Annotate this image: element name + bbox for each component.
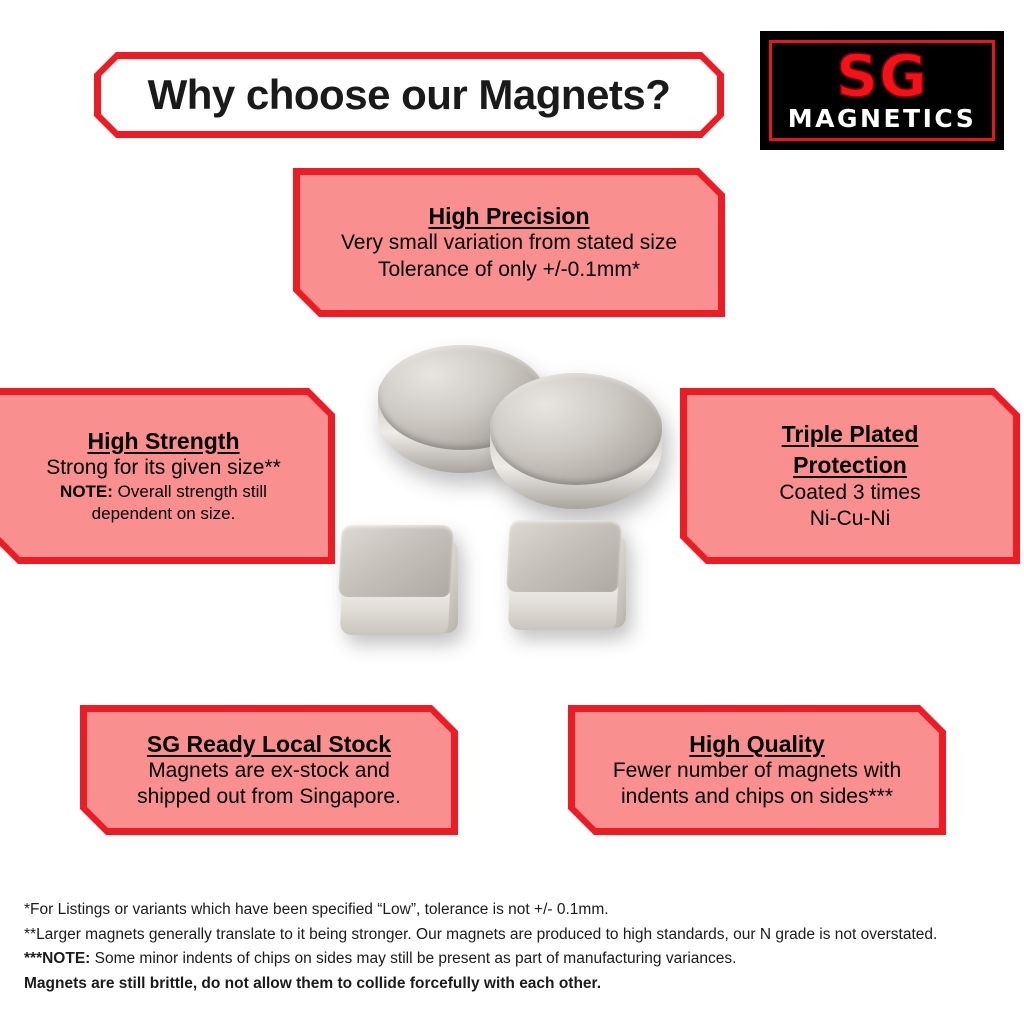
logo-brand-text: SG: [836, 50, 927, 103]
disc-front-top: [490, 373, 662, 485]
callout-sg-ready-local-stock-line-2: shipped out from Singapore.: [137, 784, 401, 810]
callout-high-strength-note-line-1: NOTE: Overall strength still: [60, 481, 267, 503]
callout-sg-ready-local-stock-line-1: Magnets are ex-stock and: [148, 758, 390, 784]
callout-high-strength-note-text-1: Overall strength still: [113, 482, 267, 501]
block-magnet-left-icon: [338, 525, 458, 653]
footnote-3: ***NOTE: Some minor indents of chips on …: [24, 947, 996, 971]
logo-subtitle-text: MAGNETICS: [788, 104, 976, 133]
callout-sg-ready-local-stock: SG Ready Local Stock Magnets are ex-stoc…: [80, 705, 458, 835]
callout-triple-plated-heading-line-2: Protection: [793, 450, 907, 480]
block-left-top-face: [338, 525, 454, 597]
callout-high-precision-line-1: Very small variation from stated size: [341, 230, 677, 256]
callout-high-quality-inner: High Quality Fewer number of magnets wit…: [575, 712, 939, 828]
callout-high-precision: High Precision Very small variation from…: [293, 168, 725, 317]
callout-high-quality-heading: High Quality: [689, 730, 824, 758]
callout-high-precision-heading: High Precision: [428, 202, 589, 230]
callout-triple-plated-line-1: Coated 3 times: [779, 480, 920, 506]
page-title: Why choose our Magnets?: [148, 71, 671, 119]
callout-high-precision-line-2: Tolerance of only +/-0.1mm*: [378, 257, 640, 283]
callout-triple-plated-heading-line-1: Triple Plated: [782, 419, 919, 449]
callout-sg-ready-local-stock-inner: SG Ready Local Stock Magnets are ex-stoc…: [87, 712, 451, 828]
block-right-top-face: [506, 520, 622, 592]
title-banner-inner: Why choose our Magnets?: [101, 59, 717, 131]
callout-high-strength-heading: High Strength: [87, 427, 239, 455]
footnote-3-note-label: ***NOTE:: [24, 950, 90, 967]
callout-triple-plated-protection: Triple Plated Protection Coated 3 times …: [680, 388, 1020, 564]
footnote-3-text: Some minor indents of chips on sides may…: [90, 950, 736, 967]
callout-high-strength-inner: High Strength Strong for its given size*…: [0, 395, 328, 557]
magnet-product-photo: [330, 335, 700, 685]
callout-high-strength-note-label: NOTE:: [60, 482, 113, 501]
disc-magnet-front-icon: [490, 373, 662, 509]
block-magnet-right-icon: [506, 520, 626, 648]
footnote-4: Magnets are still brittle, do not allow …: [24, 972, 996, 996]
footnote-2: **Larger magnets generally translate to …: [24, 923, 996, 947]
callout-high-precision-inner: High Precision Very small variation from…: [300, 175, 718, 310]
callout-high-quality: High Quality Fewer number of magnets wit…: [568, 705, 946, 835]
sg-magnetics-logo: SG MAGNETICS: [760, 31, 1004, 150]
callout-sg-ready-local-stock-heading: SG Ready Local Stock: [147, 730, 391, 758]
callout-high-quality-line-2: indents and chips on sides***: [621, 784, 893, 810]
callout-triple-plated-line-2: Ni-Cu-Ni: [810, 506, 891, 532]
title-banner: Why choose our Magnets?: [94, 52, 724, 138]
callout-high-quality-line-1: Fewer number of magnets with: [613, 758, 901, 784]
callout-triple-plated-inner: Triple Plated Protection Coated 3 times …: [687, 395, 1013, 557]
callout-high-strength-line-1: Strong for its given size**: [46, 455, 281, 481]
footnote-1: *For Listings or variants which have bee…: [24, 898, 996, 922]
footnotes-block: *For Listings or variants which have bee…: [24, 898, 996, 996]
callout-high-strength-note-line-2: dependent on size.: [92, 503, 236, 525]
callout-high-strength: High Strength Strong for its given size*…: [0, 388, 335, 564]
